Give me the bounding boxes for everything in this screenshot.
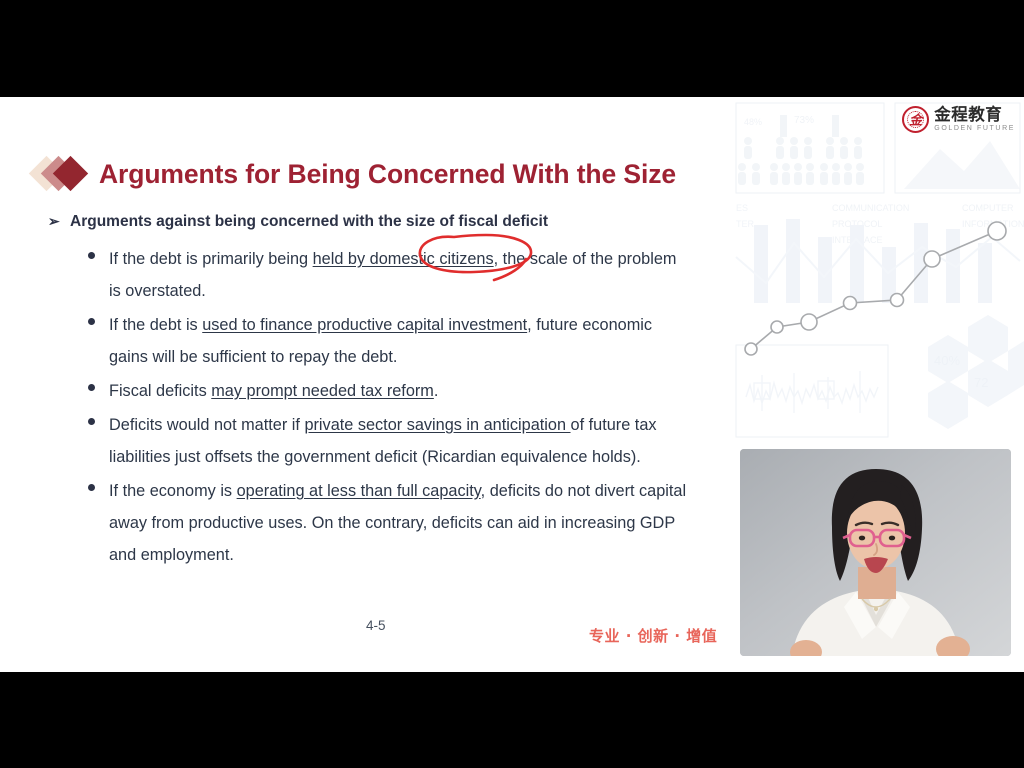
logo-english-name: GOLDEN FUTURE	[934, 125, 1015, 132]
list-item-text-post: .	[434, 382, 439, 400]
svg-text:INFORMATION: INFORMATION	[962, 219, 1024, 229]
list-item-text: If the debt is primarily being held by d…	[109, 243, 688, 307]
svg-text:73%: 73%	[794, 115, 814, 126]
slide-subheading-label: Arguments against being concerned with t…	[70, 213, 548, 231]
brand-tagline: 专业 · 创新 · 增值	[589, 625, 717, 646]
list-item-text-emphasis: operating at less than full capacity	[237, 482, 481, 500]
list-item-text: If the debt is used to finance productiv…	[109, 309, 688, 373]
list-item: If the debt is primarily being held by d…	[88, 243, 688, 307]
bullet-list: If the debt is primarily being held by d…	[88, 243, 688, 573]
list-item: Deficits would not matter if private sec…	[88, 409, 688, 473]
bullet-dot-icon	[88, 309, 109, 325]
slide-subheading: ➢ Arguments against being concerned with…	[48, 213, 548, 231]
list-item-text-pre: If the debt is	[109, 316, 202, 334]
logo-seal-icon: 金	[902, 106, 929, 133]
svg-text:40%: 40%	[934, 353, 960, 368]
list-item-text-pre: Deficits would not matter if	[109, 416, 304, 434]
logo-seal-glyph: 金	[904, 113, 927, 126]
page-number: 4-5	[366, 618, 386, 633]
brand-logo: 金 金程教育 GOLDEN FUTURE	[902, 106, 1015, 133]
bullet-dot-icon	[88, 243, 109, 259]
list-item: If the economy is operating at less than…	[88, 475, 688, 571]
list-item-text-emphasis: private sector savings in anticipation	[304, 416, 570, 434]
page-title: Arguments for Being Concerned With the S…	[99, 161, 676, 188]
bullet-dot-icon	[88, 409, 109, 425]
list-item-text: Deficits would not matter if private sec…	[109, 409, 688, 473]
list-item-text-emphasis: used to finance productive capital inves…	[202, 316, 527, 334]
list-item-text-pre: If the economy is	[109, 482, 237, 500]
video-player-screen: 48% 73% ES TER COMMUNICATION PROTOCOL IN…	[0, 0, 1024, 768]
list-item: Fiscal deficits may prompt needed tax re…	[88, 375, 688, 407]
svg-text:ES: ES	[736, 203, 748, 213]
list-item-text-emphasis: may prompt needed tax reform	[211, 382, 434, 400]
list-item-text-pre: If the debt is primarily being	[109, 250, 313, 268]
logo-chinese-name: 金程教育	[934, 107, 1015, 124]
letterbox-top	[0, 0, 1024, 97]
logo-wordmark: 金程教育 GOLDEN FUTURE	[934, 107, 1015, 133]
presentation-slide: 48% 73% ES TER COMMUNICATION PROTOCOL IN…	[0, 97, 1024, 672]
svg-text:INTERFACE: INTERFACE	[832, 235, 883, 245]
letterbox-bottom	[0, 672, 1024, 768]
arrow-bullet-icon: ➢	[48, 213, 70, 230]
svg-text:PROTOCOL: PROTOCOL	[832, 219, 882, 229]
decorative-infographic: 48% 73% ES TER COMMUNICATION PROTOCOL IN…	[732, 97, 1024, 442]
list-item-text-emphasis: held by domestic citizens	[313, 250, 494, 268]
bullet-dot-icon	[88, 475, 109, 491]
svg-text:COMPUTER: COMPUTER	[962, 203, 1014, 213]
list-item: If the debt is used to finance productiv…	[88, 309, 688, 373]
svg-text:TER: TER	[736, 219, 755, 229]
diamond-ornament-icon	[34, 154, 90, 194]
list-item-text: If the economy is operating at less than…	[109, 475, 688, 571]
svg-text:48%: 48%	[744, 117, 762, 127]
bullet-dot-icon	[88, 375, 109, 391]
presenter-webcam-feed[interactable]	[740, 449, 1011, 656]
svg-text:72: 72	[974, 375, 988, 390]
svg-text:COMMUNICATION: COMMUNICATION	[832, 203, 909, 213]
list-item-text: Fiscal deficits may prompt needed tax re…	[109, 375, 688, 407]
list-item-text-pre: Fiscal deficits	[109, 382, 211, 400]
slide-title-row: Arguments for Being Concerned With the S…	[34, 154, 676, 194]
